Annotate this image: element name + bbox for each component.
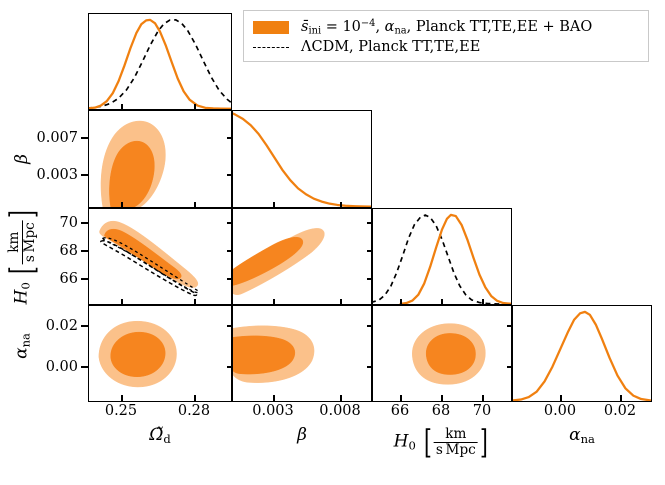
- xtick-interior: [400, 299, 402, 304]
- yticklabel-beta-1: 0.007: [30, 130, 78, 146]
- ytick-interior: [367, 366, 372, 368]
- legend-label-na-bao: s̄ini = 10−4, αna, Planck TT,TE,EE + BAO: [301, 18, 592, 37]
- xtick-interior: [273, 299, 275, 304]
- xtick-omegad-0.25: [121, 395, 123, 402]
- legend-swatch-orange: [253, 21, 289, 34]
- xtick-interior: [121, 104, 123, 109]
- xtick-beta-0.008: [340, 395, 342, 402]
- ytick-interior: [227, 137, 232, 139]
- yticklabel-beta-2: 0.003: [30, 167, 78, 183]
- xticklabel-omegad-1: 0.25: [105, 403, 137, 419]
- ytick-interior: [227, 278, 232, 280]
- ytick-interior: [507, 325, 512, 327]
- xtick-h0-66: [400, 395, 402, 402]
- xticklabel-beta-2: 0.008: [319, 403, 361, 419]
- legend: s̄ini = 10−4, αna, Planck TT,TE,EE + BAO…: [243, 10, 649, 62]
- ytick-interior: [367, 250, 372, 252]
- xtick-omegad-0.28: [194, 395, 196, 402]
- xtick-interior: [194, 299, 196, 304]
- xtick-interior: [482, 299, 484, 304]
- yticklabel-h0-2: 68: [48, 243, 78, 259]
- ytick-alphana-0.00: [81, 366, 88, 368]
- ytick-interior: [367, 222, 372, 224]
- panel-alphana-vs-beta: [232, 305, 372, 402]
- panel-h0-marginal: [372, 208, 512, 305]
- legend-entry-lcdm: ΛCDM, Planck TT,TE,EE: [253, 37, 639, 57]
- xticklabel-omegad-2: 0.28: [178, 403, 210, 419]
- xtick-h0-68: [441, 395, 443, 402]
- legend-label-lcdm: ΛCDM, Planck TT,TE,EE: [301, 39, 480, 55]
- legend-entry-na-bao: s̄ini = 10−4, αna, Planck TT,TE,EE + BAO: [253, 17, 639, 37]
- ytick-beta-0.007: [81, 137, 88, 139]
- xtick-interior: [121, 202, 123, 207]
- xtick-h0-70: [482, 395, 484, 402]
- panel-omegad-marginal: [88, 13, 232, 110]
- xticklabel-alphana-1: 0.00: [544, 403, 576, 419]
- yticklabel-alphana-2: 0.00: [30, 359, 78, 375]
- yticklabel-alphana-1: 0.02: [30, 318, 78, 334]
- xtick-interior: [340, 299, 342, 304]
- ytick-beta-0.003: [81, 174, 88, 176]
- ytick-interior: [227, 222, 232, 224]
- ytick-h0-70: [81, 222, 88, 224]
- xtick-interior: [121, 299, 123, 304]
- xtick-beta-0.003: [273, 395, 275, 402]
- xticklabel-h0-2: 68: [432, 403, 450, 419]
- yticklabel-h0-3: 66: [48, 271, 78, 287]
- ytick-interior: [367, 325, 372, 327]
- ytick-interior: [227, 366, 232, 368]
- xtick-interior: [194, 104, 196, 109]
- ytick-interior: [367, 278, 372, 280]
- ytick-h0-68: [81, 250, 88, 252]
- ytick-interior: [227, 325, 232, 327]
- xtick-interior: [194, 202, 196, 207]
- xtick-interior: [273, 202, 275, 207]
- xtick-alphana-0.00: [560, 395, 562, 402]
- ytick-interior: [227, 250, 232, 252]
- ytick-interior: [507, 366, 512, 368]
- panel-alphana-vs-h0: [372, 305, 512, 402]
- panel-h0-vs-beta: [232, 208, 372, 305]
- ytick-interior: [227, 174, 232, 176]
- xtick-interior: [441, 299, 443, 304]
- panel-beta-vs-omegad: [88, 110, 232, 208]
- ytick-alphana-0.02: [81, 325, 88, 327]
- panel-h0-vs-omegad: [88, 208, 232, 305]
- ytick-h0-66: [81, 278, 88, 280]
- xticklabel-alphana-2: 0.02: [604, 403, 636, 419]
- xticklabel-h0-3: 70: [473, 403, 491, 419]
- xtick-interior: [340, 202, 342, 207]
- xticklabel-h0-1: 66: [391, 403, 409, 419]
- legend-dash-black: [253, 47, 289, 48]
- xtick-alphana-0.02: [620, 395, 622, 402]
- panel-alphana-vs-omegad: [88, 305, 232, 402]
- corner-plot-figure: s̄ini = 10−4, αna, Planck TT,TE,EE + BAO…: [0, 0, 665, 485]
- yticklabel-h0-1: 70: [48, 215, 78, 231]
- panel-alphana-marginal: [512, 305, 652, 402]
- panel-beta-marginal: [232, 110, 372, 208]
- xticklabel-beta-1: 0.003: [252, 403, 294, 419]
